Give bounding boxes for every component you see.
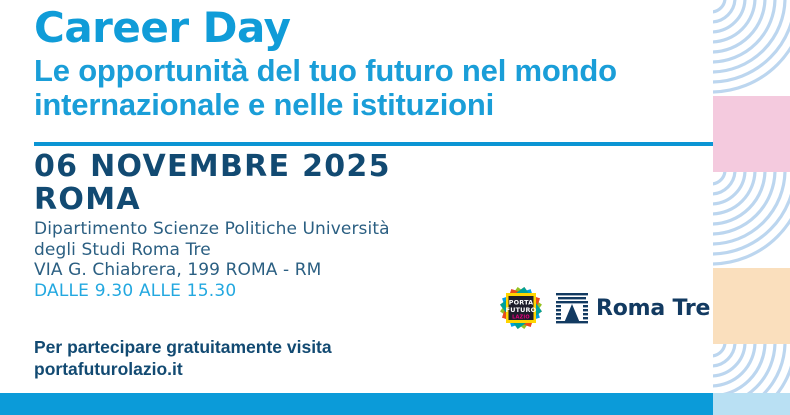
subtitle-line-2: internazionale e nelle istituzioni [34,88,724,122]
pinwheel-squares-icon: PORTA FUTURO LAZIO [497,285,545,331]
cta-block: Per partecipare gratuitamente visita por… [34,336,332,380]
career-day-poster: Career Day Le opportunità del tuo futuro… [0,0,790,415]
cta-line-1: Per partecipare gratuitamente visita [34,336,332,358]
bottom-bar-blue [0,393,713,415]
pink-quarter-circle [713,96,790,172]
page-title: Career Day [34,6,724,50]
event-hours: DALLE 9.30 ALLE 15.30 [34,281,391,302]
cta-website[interactable]: portafuturolazio.it [34,358,332,380]
roma-tre-logo: Roma Tre [555,291,710,325]
subtitle-line-1: Le opportunità del tuo futuro nel mondo [34,53,617,88]
arc-pattern-block-1 [713,0,790,96]
divider-rule [34,142,713,146]
roma-tre-building-icon [555,291,589,325]
event-date: 06 NOVEMBRE 2025 [34,150,391,183]
arc-pattern-block-2 [713,172,790,268]
pf-text-futuro: FUTURO [506,306,537,314]
event-details-block: 06 NOVEMBRE 2025 ROMA Dipartimento Scien… [34,150,391,301]
decorative-column [713,0,790,415]
page-subtitle: Le opportunità del tuo futuro nel mondo … [34,54,724,122]
roma-tre-wordmark: Roma Tre [596,296,710,321]
event-city: ROMA [34,183,391,216]
event-venue: Dipartimento Scienze Politiche Universit… [34,219,391,301]
headline-block: Career Day Le opportunità del tuo futuro… [34,0,724,122]
concentric-arcs-icon [713,0,790,96]
concentric-arcs-icon [713,172,790,268]
venue-line-2: degli Studi Roma Tre [34,240,391,261]
venue-line-1: Dipartimento Scienze Politiche Universit… [34,219,391,240]
pf-text-lazio: LAZIO [512,315,530,321]
logo-row: PORTA FUTURO LAZIO [497,285,710,331]
venue-address: VIA G. Chiabrera, 199 ROMA - RM [34,260,391,281]
peach-quarter-circle [713,268,790,344]
bottom-bar-light [713,393,790,415]
porta-futuro-lazio-logo: PORTA FUTURO LAZIO [497,285,545,331]
